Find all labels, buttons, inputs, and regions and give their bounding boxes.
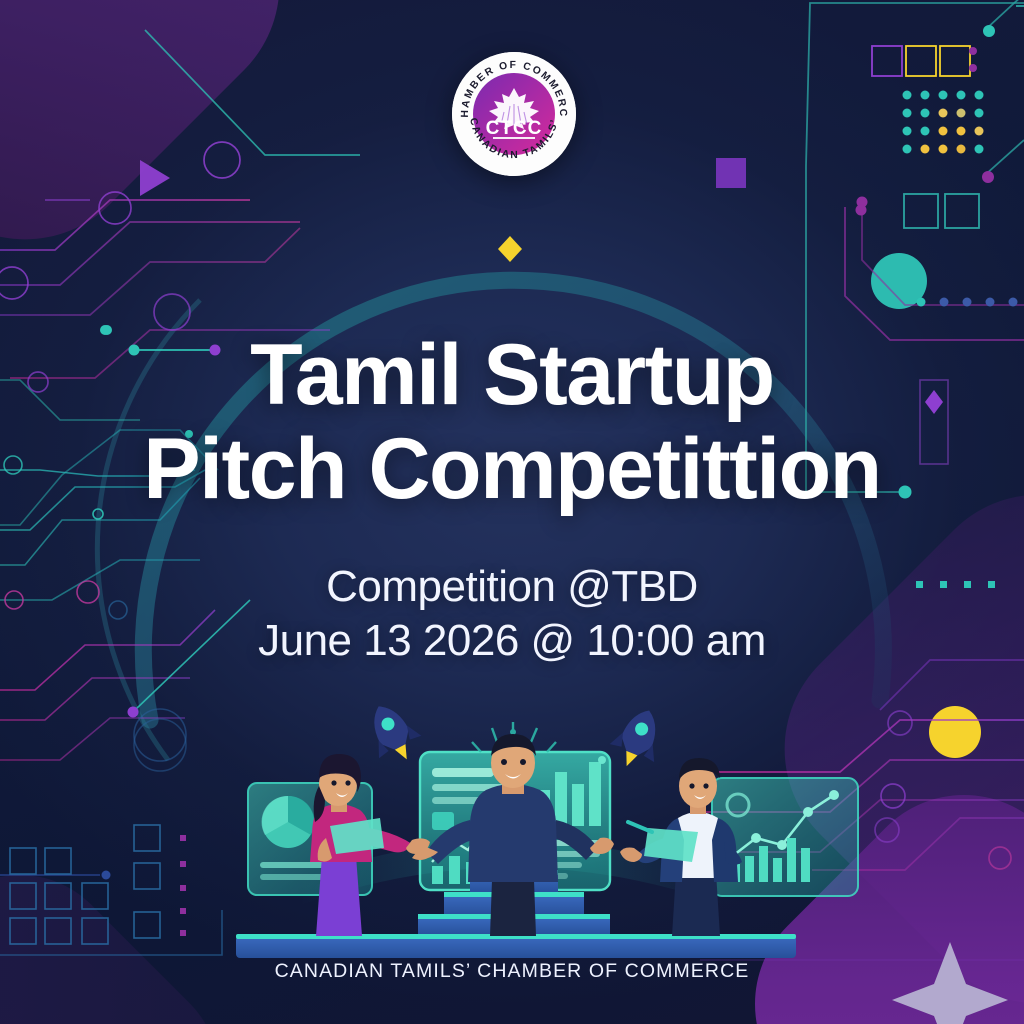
ctcc-logo-badge[interactable]: CTCC CHAMBER OF COMMERCE CANADIAN TAMILS… — [452, 52, 576, 176]
headline-line-1: Tamil Startup — [250, 327, 774, 423]
page-title: Tamil Startup Pitch Competittion — [0, 332, 1024, 513]
poster-canvas: CTCC CHAMBER OF COMMERCE CANADIAN TAMILS… — [0, 0, 1024, 1024]
organization-footer: CANADIAN TAMILS’ CHAMBER OF COMMERCE — [0, 960, 1024, 983]
event-details: Competition @TBD June 13 2026 @ 10:00 am — [0, 560, 1024, 667]
subtitle-line-2: June 13 2026 @ 10:00 am — [0, 614, 1024, 668]
rocket-left-icon — [357, 695, 428, 771]
logo-monogram: CTCC — [486, 118, 543, 139]
presenter-woman-left — [310, 754, 430, 936]
subtitle-line-1: Competition @TBD — [0, 560, 1024, 614]
rocket-right-icon — [604, 702, 671, 776]
pointer-stick — [628, 822, 652, 832]
headline-line-2: Pitch Competittion — [0, 426, 1024, 514]
